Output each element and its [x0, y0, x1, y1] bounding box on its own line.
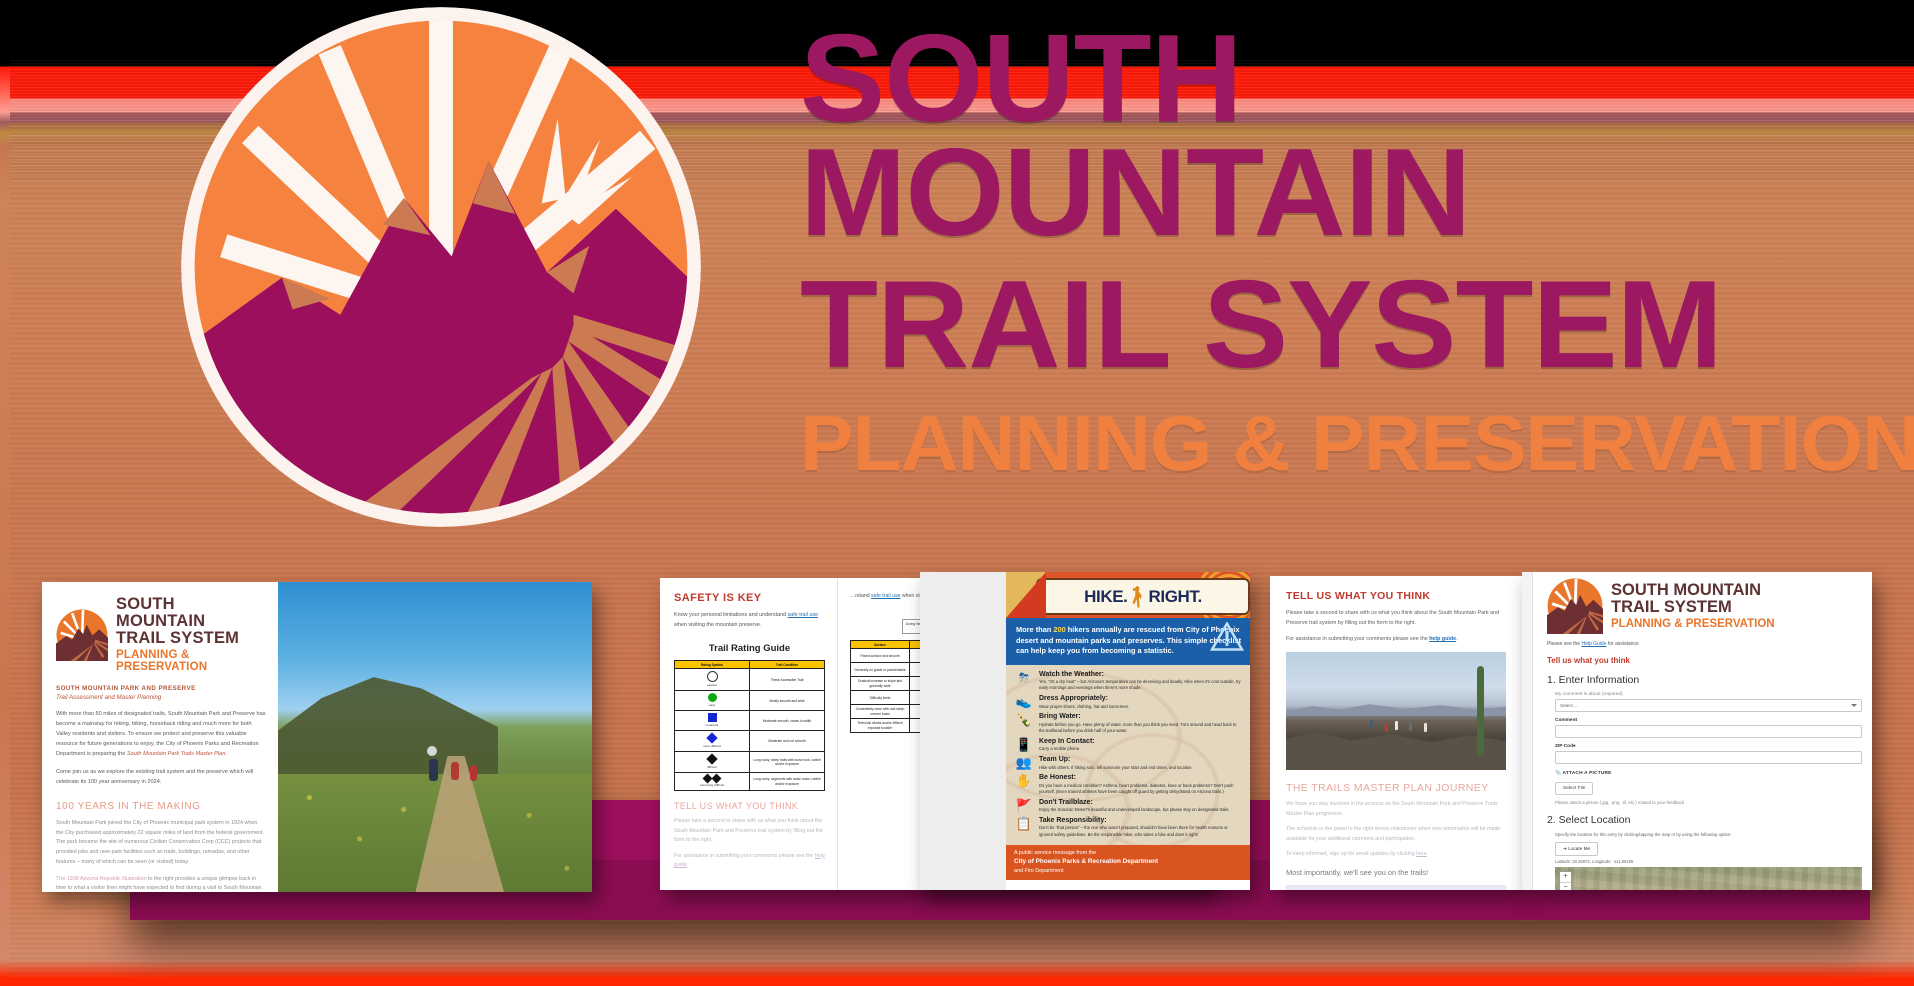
warning-triangle-icon: [1210, 622, 1244, 652]
select-location-hint: Specify the location for this entry by c…: [1555, 832, 1862, 837]
trails-master-plan-journey-heading: THE TRAILS MASTER PLAN JOURNEY: [1286, 782, 1506, 794]
hero-headline: SOUTH MOUNTAIN TRAIL SYSTEM PLANNING & P…: [800, 22, 1890, 480]
select-file-button[interactable]: Select File: [1555, 782, 1593, 795]
group-hikers-icon: 👥: [1014, 756, 1034, 771]
tell-us-heading: TELL US WHAT YOU THINK: [1286, 590, 1506, 602]
form-step-2-heading: 2. Select Location: [1547, 814, 1862, 826]
email-updates-link[interactable]: here: [1416, 851, 1427, 857]
hiker-silhouette-icon: [1132, 586, 1145, 608]
table-row: moderateModerate smooth, varies in width: [675, 711, 825, 731]
chevron-down-icon: [1851, 704, 1857, 707]
form-body: SOUTH MOUNTAIN TRAIL SYSTEM PLANNING & P…: [1533, 572, 1872, 890]
hike-right-badge: HIKE. RIGHT.: [1036, 578, 1250, 615]
coordinates-readout: Latitude: 33.26974, Longitude: -111.5619…: [1555, 859, 1862, 864]
overlook-photo: [1286, 652, 1506, 770]
journey-paragraph-1: We hope you stay involved in the process…: [1286, 800, 1506, 819]
overview-paragraph-2: Come join us as we explore the existing …: [56, 768, 266, 788]
comment-about-value: Select ...: [1560, 703, 1578, 708]
hero-title-line2: TRAIL SYSTEM: [800, 268, 1914, 382]
safety-paragraph: Know your personal limitations and under…: [674, 611, 825, 630]
hiker-figure: [429, 759, 438, 781]
table-row: extremely difficultLong rocky, segments …: [675, 773, 825, 791]
attach-picture-label: 📎 ATTACH A PICTURE: [1555, 771, 1862, 776]
journey-paragraph-2: The schedule in the panel to the right s…: [1286, 825, 1506, 844]
table-row: easiestThese Accessible Trail: [675, 669, 825, 691]
form-title: Tell us what you think: [1547, 656, 1862, 665]
map-zoom-controls[interactable]: + −: [1559, 871, 1572, 890]
overview-kicker: SOUTH MOUNTAIN PARK AND PRESERVE: [56, 685, 266, 692]
overview-plan-link[interactable]: South Mountain Park Trails Master Plan.: [127, 751, 227, 757]
col-trail-condition: Trail Condition: [750, 661, 825, 669]
form-wordmark-line2: TRAIL SYSTEM: [1611, 599, 1775, 616]
tell-us-assist: For assistance in submitting your commen…: [1286, 635, 1506, 645]
hike-right-footer: A public service message from the City o…: [1006, 845, 1250, 880]
overview-logo-lockup: SOUTH MOUNTAIN TRAIL SYSTEM PLANNING & P…: [56, 596, 266, 673]
list-item: 👟Dress Appropriately:Wear proper shoes, …: [1014, 695, 1242, 710]
footer-line-1: A public service message from the: [1014, 849, 1242, 857]
hike-right-page: HIKE. RIGHT. More than 200 hikers annual…: [1006, 572, 1250, 890]
document-panel-tell-us[interactable]: TELL US WHAT YOU THINK Please take a sec…: [1270, 576, 1522, 890]
hike-right-header-band: HIKE. RIGHT.: [1006, 572, 1250, 618]
list-item: ✋Be Honest:Do you have a medical conditi…: [1014, 774, 1242, 795]
journey-closing: Most importantly, we'll see you on the t…: [1286, 868, 1506, 877]
ocotillo-plant: [1477, 666, 1484, 756]
badge-right-text: RIGHT.: [1149, 587, 1202, 607]
help-guide-link[interactable]: help guide: [1429, 636, 1456, 642]
overview-text-column: SOUTH MOUNTAIN TRAIL SYSTEM PLANNING & P…: [42, 582, 278, 892]
hike-right-checklist: ⛈Watch the Weather:Yes, "it's a dry heat…: [1006, 665, 1250, 846]
label-comment: Comment: [1555, 718, 1862, 723]
safe-trail-use-link[interactable]: safe trail use: [788, 612, 819, 618]
safety-left-column: SAFETY IS KEY Know your personal limitat…: [660, 578, 838, 890]
location-map[interactable]: + −: [1555, 867, 1862, 890]
hero-subtitle: PLANNING & PRESERVATION: [800, 408, 1914, 480]
crosshair-icon: ➜: [1563, 846, 1567, 851]
form-left-rail: [1522, 572, 1533, 890]
document-panel-comment-form[interactable]: SOUTH MOUNTAIN TRAIL SYSTEM PLANNING & P…: [1522, 572, 1872, 890]
left-edge-strip: [0, 0, 10, 986]
form-wordmark-line3: PLANNING & PRESERVATION: [1611, 618, 1775, 630]
comment-about-select[interactable]: Select ...: [1555, 699, 1862, 712]
storm-cloud-icon: ⛈: [1014, 671, 1034, 692]
safety-tell-us-heading: TELL US WHAT YOU THINK: [674, 801, 825, 811]
poster-canvas: SOUTH MOUNTAIN TRAIL SYSTEM PLANNING & P…: [0, 0, 1914, 986]
trail-rating-table: Rating Symbol Trail Condition easiestThe…: [674, 660, 825, 791]
form-fields: My comment is about (required) Select ..…: [1555, 692, 1862, 805]
water-bottles-icon: 🍾: [1014, 713, 1034, 734]
trail-sign-icon: 🚩: [1014, 799, 1034, 814]
document-panel-hike-right[interactable]: HIKE. RIGHT. More than 200 hikers annual…: [920, 572, 1250, 890]
rescue-count: 200: [1053, 625, 1065, 634]
south-mountain-logo-badge: [176, 2, 706, 532]
overview-trail-photo: [278, 582, 592, 892]
badge-hike-text: HIKE.: [1084, 587, 1127, 607]
journey-paragraph-3: To keep informed, sign up for email upda…: [1286, 850, 1506, 860]
overview-wordmark-line2: TRAIL SYSTEM: [116, 630, 266, 647]
list-item: 👥Team Up:Hike with others. If hiking sol…: [1014, 756, 1242, 771]
journey-timeline-box: [1286, 885, 1506, 890]
overview-wordmark-line3: PLANNING & PRESERVATION: [116, 649, 266, 673]
list-item: 🍾Bring Water:Hydrate before you go. Have…: [1014, 713, 1242, 734]
zip-code-input[interactable]: [1555, 751, 1862, 764]
document-panel-overview[interactable]: SOUTH MOUNTAIN TRAIL SYSTEM PLANNING & P…: [42, 582, 592, 892]
form-help-line: Please see the Help Guide for assistance: [1547, 641, 1862, 647]
col-rating-symbol: Rating Symbol: [675, 661, 750, 669]
list-item: 📋Take Responsibility:Don't be "that pers…: [1014, 817, 1242, 838]
form-location-group: Specify the location for this entry by c…: [1555, 832, 1862, 890]
overview-logo-icon: [56, 609, 108, 661]
locate-me-button[interactable]: ➜ Locate Me: [1555, 842, 1598, 856]
boot-icon: 👟: [1014, 695, 1034, 710]
safety-tell-us-paragraph: Please take a second to share with us wh…: [674, 817, 825, 846]
list-item: 📱Keep In Contact:Carry a mobile phone.: [1014, 738, 1242, 753]
comment-input[interactable]: [1555, 725, 1862, 738]
zoom-in-button[interactable]: +: [1560, 872, 1571, 882]
footer-line-2: City of Phoenix Parks & Recreation Depar…: [1014, 858, 1158, 865]
paperclip-icon: 📎: [1555, 771, 1561, 776]
form-logo-lockup: SOUTH MOUNTAIN TRAIL SYSTEM PLANNING & P…: [1547, 578, 1862, 634]
overview-paragraph-1: With more than 50 miles of designated tr…: [56, 710, 266, 759]
overview-paragraph-3: South Mountain Park joined the City of P…: [56, 819, 266, 868]
list-item: 🚩Don't Trailblaze:Enjoy the Sonoran Dese…: [1014, 799, 1242, 814]
hiker-figure-3: [470, 765, 477, 781]
overview-heading-100-years: 100 YEARS IN THE MAKING: [56, 801, 266, 812]
safety-assist-line: For assistance in submitting your commen…: [674, 852, 825, 871]
trail-rating-guide-title: Trail Rating Guide: [674, 643, 825, 654]
table-row: difficultLong rocky, steep trails with l…: [675, 752, 825, 773]
overview-wordmark-line1: SOUTH MOUNTAIN: [116, 596, 266, 630]
overview-subtitle: Trail Assessment and Master Planning: [56, 694, 266, 701]
safety-heading: SAFETY IS KEY: [674, 592, 825, 604]
overview-paragraph-4: The 1938 Arizona Republic illustration t…: [56, 875, 266, 892]
label-comment-about: My comment is about (required): [1555, 692, 1862, 697]
label-zip-code: ZIP Code: [1555, 744, 1862, 749]
form-wordmark-line1: SOUTH MOUNTAIN: [1611, 582, 1775, 599]
footer-line-3: and Fire Department: [1014, 867, 1242, 875]
help-guide-link[interactable]: Help Guide: [1581, 641, 1606, 647]
form-step-1-heading: 1. Enter Information: [1547, 674, 1862, 686]
zoom-out-button[interactable]: −: [1560, 882, 1571, 890]
bottom-red-strip: [0, 977, 1914, 986]
mobile-phone-icon: 📱: [1014, 738, 1034, 753]
table-row: easyMostly smooth and wide: [675, 691, 825, 711]
hero-title-line1: SOUTH MOUNTAIN: [800, 22, 1914, 250]
tell-us-paragraph: Please take a second to share with us wh…: [1286, 609, 1506, 628]
hike-right-intro: More than 200 hikers annually are rescue…: [1006, 618, 1250, 665]
attach-hint: Please attach a picture (.jpg, .png, .ti…: [1555, 800, 1862, 805]
hiker-figure-2: [451, 762, 459, 780]
sunburst-mountain-icon: [176, 2, 706, 532]
table-row: more difficultModerate and not smooth: [675, 731, 825, 752]
overview-wordmark: SOUTH MOUNTAIN TRAIL SYSTEM PLANNING & P…: [116, 596, 266, 673]
people-on-overlook: [1365, 714, 1440, 735]
clipboard-icon: 📋: [1014, 817, 1034, 838]
list-item: ⛈Watch the Weather:Yes, "it's a dry heat…: [1014, 671, 1242, 692]
col-surface: Surface: [851, 641, 910, 649]
form-wordmark: SOUTH MOUNTAIN TRAIL SYSTEM PLANNING & P…: [1611, 582, 1775, 631]
raised-hand-icon: ✋: [1014, 774, 1034, 795]
table-header-row: Rating Symbol Trail Condition: [675, 661, 825, 669]
form-logo-icon: [1547, 578, 1603, 634]
